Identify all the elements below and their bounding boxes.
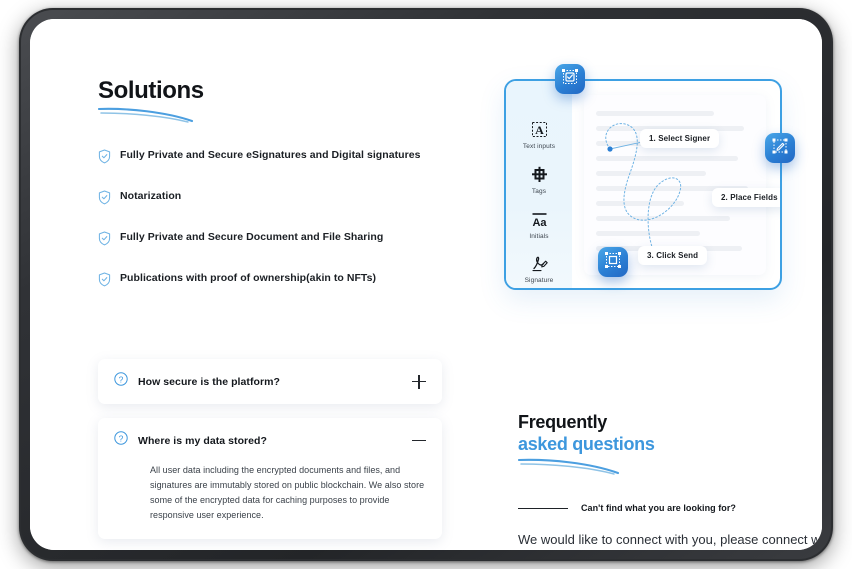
illustration-toolbar: A Text inputs [506, 81, 572, 288]
faq-cta-body: We would like to connect with you, pleas… [518, 529, 822, 550]
faq-heading-line1: Frequently [518, 411, 818, 433]
list-item: Notarization [98, 190, 458, 210]
faq-question: Where is my data stored? [138, 435, 412, 447]
faq-heading-block: Frequently asked questions [518, 411, 818, 475]
svg-text:?: ? [119, 433, 124, 443]
shield-check-icon [98, 190, 111, 210]
initials-icon: Aa [506, 207, 572, 231]
doc-placeholder-line [596, 156, 738, 161]
faq-accordion: ? How secure is the platform? ? [98, 359, 442, 550]
workflow-illustration: A Text inputs [485, 64, 785, 294]
shield-check-icon [98, 149, 111, 169]
select-check-icon [561, 68, 579, 91]
step-pill-place-fields: 2. Place Fields [712, 188, 782, 207]
list-item-label: Fully Private and Secure eSignatures and… [120, 149, 421, 162]
transform-frame-badge[interactable] [598, 247, 628, 277]
tool-signature[interactable]: Signature [506, 251, 572, 284]
solutions-section: Solutions Fully Private and Secure e [98, 79, 458, 313]
doc-placeholder-line [596, 201, 684, 206]
tag-icon [506, 162, 572, 186]
shield-check-icon [98, 272, 111, 292]
doc-placeholder-line [596, 231, 700, 236]
tool-label: Signature [506, 277, 572, 284]
faq-cta-block: Can't find what you are looking for? We … [518, 503, 822, 550]
tool-label: Text inputs [506, 143, 572, 150]
faq-expand-toggle[interactable] [412, 375, 426, 389]
tool-initials[interactable]: Aa Initials [506, 207, 572, 240]
faq-item-how-secure[interactable]: ? How secure is the platform? [98, 359, 442, 404]
svg-text:A: A [535, 123, 544, 137]
svg-text:Aa: Aa [532, 217, 547, 229]
doc-placeholder-line [596, 216, 730, 221]
tablet-screen: Solutions Fully Private and Secure e [30, 19, 822, 550]
faq-answer-body: All user data including the encrypted do… [98, 463, 442, 539]
list-item-label: Publications with proof of ownership(aki… [120, 272, 376, 285]
faq-item-data-stored[interactable]: ? Where is my data stored? All user data… [98, 418, 442, 539]
divider-rule [518, 508, 568, 509]
list-item: Fully Private and Secure eSignatures and… [98, 149, 458, 169]
transform-frame-icon [604, 251, 622, 274]
signature-icon [506, 251, 572, 275]
faq-heading-line2: asked questions [518, 433, 818, 455]
faq-collapse-toggle[interactable] [412, 434, 426, 448]
svg-text:?: ? [119, 374, 124, 384]
illustration-panel: A Text inputs [504, 79, 782, 290]
edit-frame-badge[interactable] [765, 133, 795, 163]
faq-question: How secure is the platform? [138, 376, 412, 388]
doc-placeholder-line [596, 171, 706, 176]
text-input-icon: A [506, 117, 572, 141]
faq-item-header[interactable]: ? How secure is the platform? [98, 359, 442, 404]
question-circle-icon: ? [114, 431, 128, 450]
tool-tags[interactable]: Tags [506, 162, 572, 195]
select-check-badge[interactable] [555, 64, 585, 94]
tool-text-inputs[interactable]: A Text inputs [506, 117, 572, 150]
tool-label: Tags [506, 188, 572, 195]
step-pill-select-signer: 1. Select Signer [640, 129, 719, 148]
faq-cta-row: Can't find what you are looking for? [518, 503, 822, 513]
question-circle-icon: ? [114, 372, 128, 391]
edit-frame-icon [771, 137, 789, 160]
list-item-label: Fully Private and Secure Document and Fi… [120, 231, 383, 244]
faq-cta-question: Can't find what you are looking for? [581, 503, 736, 513]
tool-label: Initials [506, 233, 572, 240]
list-item: Publications with proof of ownership(aki… [98, 272, 458, 292]
page-content: Solutions Fully Private and Secure e [30, 19, 822, 550]
tablet-device-frame: Solutions Fully Private and Secure e [19, 8, 833, 561]
solutions-list: Fully Private and Secure eSignatures and… [98, 149, 458, 292]
list-item: Fully Private and Secure Document and Fi… [98, 231, 458, 251]
solutions-title: Solutions [98, 79, 458, 103]
list-item-label: Notarization [120, 190, 181, 203]
title-underline-swoosh [98, 106, 194, 123]
faq-answer-text: All user data including the encrypted do… [150, 463, 426, 523]
faq-item-header[interactable]: ? Where is my data stored? [98, 418, 442, 463]
doc-placeholder-line [596, 111, 714, 116]
shield-check-icon [98, 231, 111, 251]
step-pill-click-send: 3. Click Send [638, 246, 707, 265]
faq-underline-swoosh [518, 457, 620, 475]
